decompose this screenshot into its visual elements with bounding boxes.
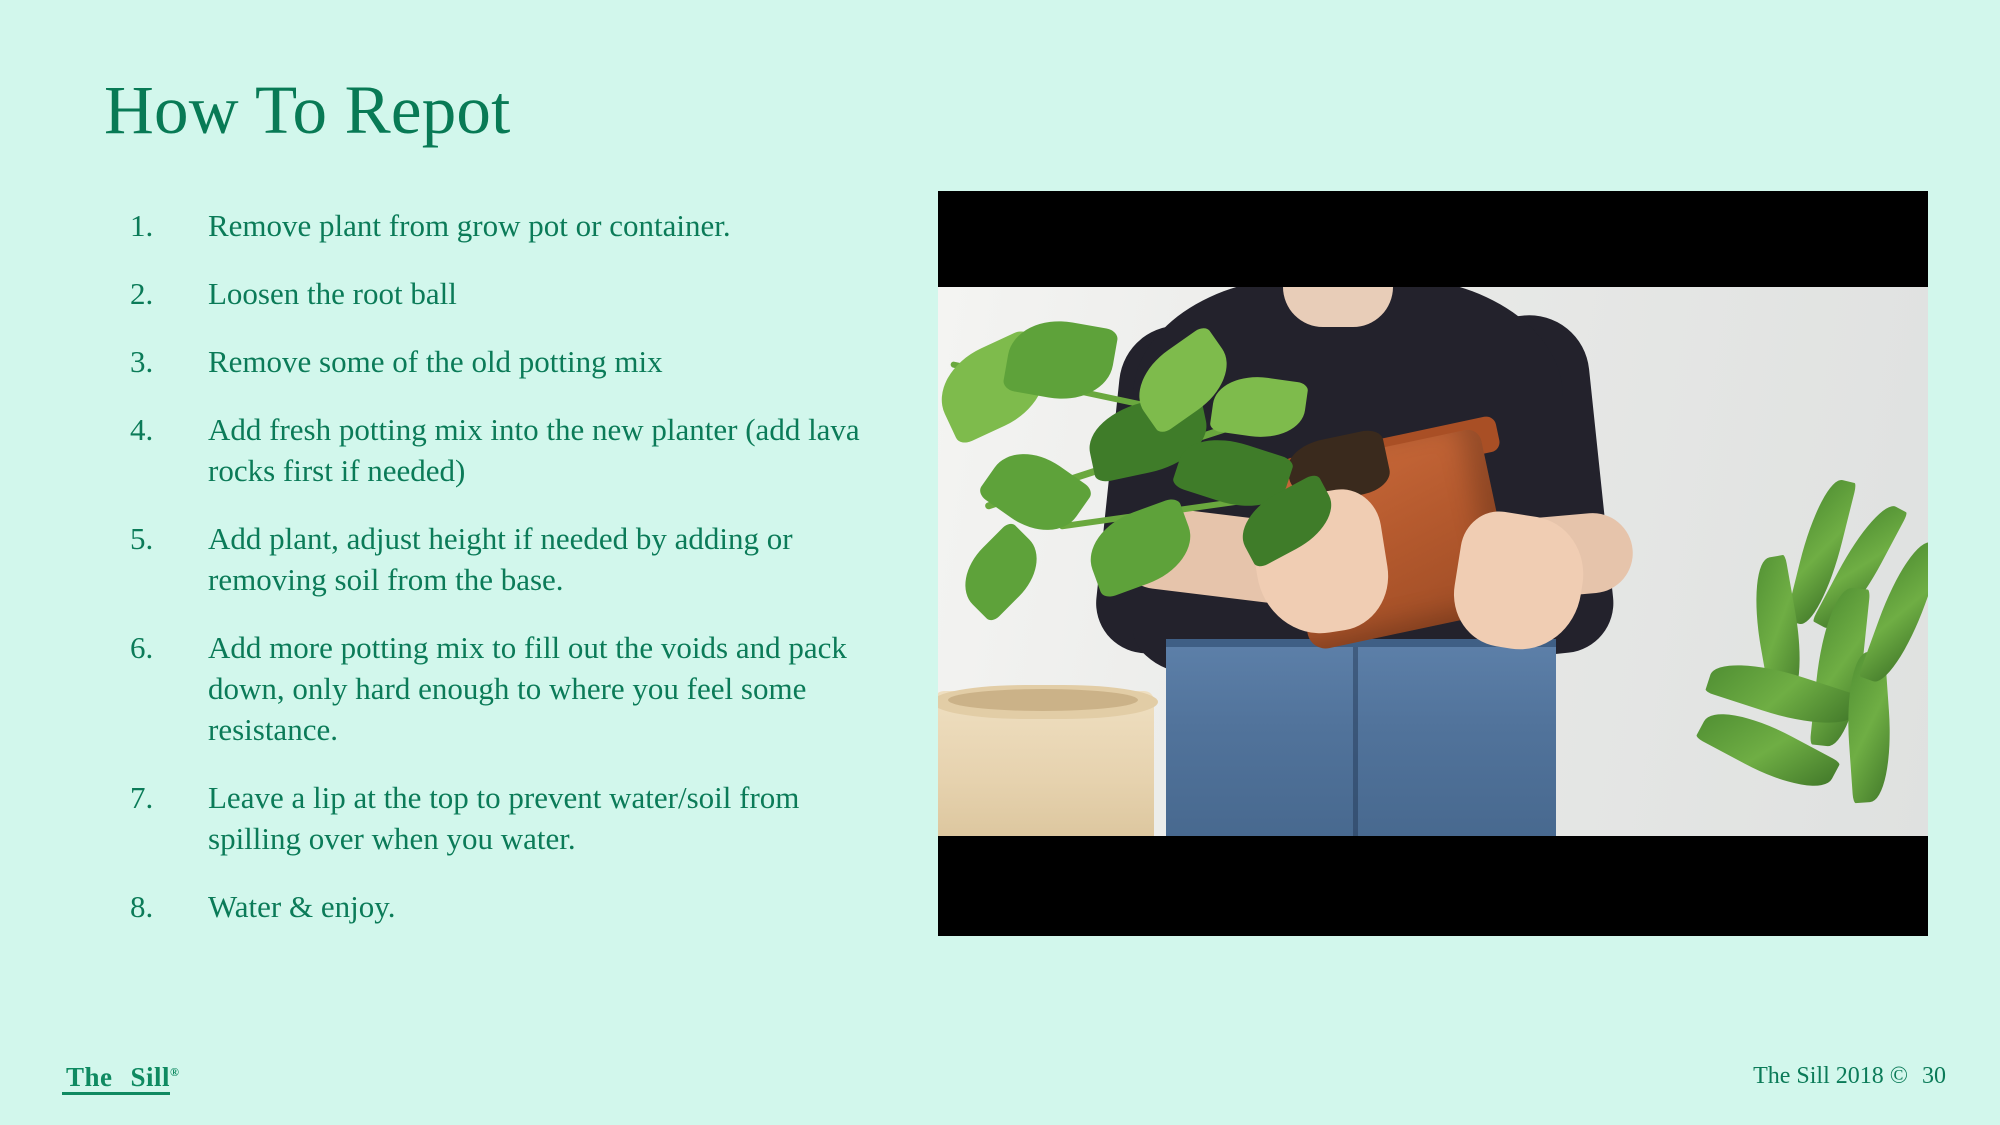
list-item-number: 2. xyxy=(130,273,208,314)
list-item-text: Water & enjoy. xyxy=(208,886,860,927)
list-item-text: Leave a lip at the top to prevent water/… xyxy=(208,777,860,859)
list-item-number: 1. xyxy=(130,205,208,246)
cream-planter-opening xyxy=(948,689,1138,711)
list-item: 3. Remove some of the old potting mix xyxy=(130,341,860,382)
list-item-text: Add plant, adjust height if needed by ad… xyxy=(208,518,860,600)
list-item-number: 4. xyxy=(130,409,208,450)
brand-logo: TheSill® xyxy=(66,1057,180,1092)
pothos-plant xyxy=(938,307,1338,637)
brand-logo-sill: Sill xyxy=(131,1062,171,1092)
steps-list: 1. Remove plant from grow pot or contain… xyxy=(130,205,860,954)
page-number: 30 xyxy=(1922,1063,1946,1089)
list-item: 4. Add fresh potting mix into the new pl… xyxy=(130,409,860,491)
list-item-text: Remove plant from grow pot or container. xyxy=(208,205,860,246)
registered-trademark-icon: ® xyxy=(170,1065,179,1079)
slide: How To Repot 1. Remove plant from grow p… xyxy=(0,0,2000,1125)
list-item-text: Remove some of the old potting mix xyxy=(208,341,860,382)
list-item: 6. Add more potting mix to fill out the … xyxy=(130,627,860,750)
brand-logo-underline xyxy=(62,1092,170,1095)
brand-logo-the: The xyxy=(66,1062,113,1092)
person-jeans xyxy=(1166,647,1556,836)
list-item-number: 3. xyxy=(130,341,208,382)
footer-right: The Sill 2018 ©30 xyxy=(1753,1061,1946,1091)
list-item-number: 7. xyxy=(130,777,208,818)
video-still-image xyxy=(938,287,1928,836)
video-player[interactable] xyxy=(938,191,1928,936)
list-item-number: 8. xyxy=(130,886,208,927)
calathea-plant xyxy=(1698,477,1928,836)
list-item-text: Add fresh potting mix into the new plant… xyxy=(208,409,860,491)
list-item: 2. Loosen the root ball xyxy=(130,273,860,314)
page-title: How To Repot xyxy=(104,74,510,146)
list-item: 1. Remove plant from grow pot or contain… xyxy=(130,205,860,246)
letterbox-bar-top xyxy=(938,191,1928,287)
list-item: 8. Water & enjoy. xyxy=(130,886,860,927)
copyright-text: The Sill 2018 © xyxy=(1753,1063,1908,1089)
list-item-number: 5. xyxy=(130,518,208,559)
letterbox-bar-bottom xyxy=(938,836,1928,936)
list-item: 5. Add plant, adjust height if needed by… xyxy=(130,518,860,600)
list-item: 7. Leave a lip at the top to prevent wat… xyxy=(130,777,860,859)
list-item-text: Loosen the root ball xyxy=(208,273,860,314)
list-item-number: 6. xyxy=(130,627,208,668)
list-item-text: Add more potting mix to fill out the voi… xyxy=(208,627,860,750)
